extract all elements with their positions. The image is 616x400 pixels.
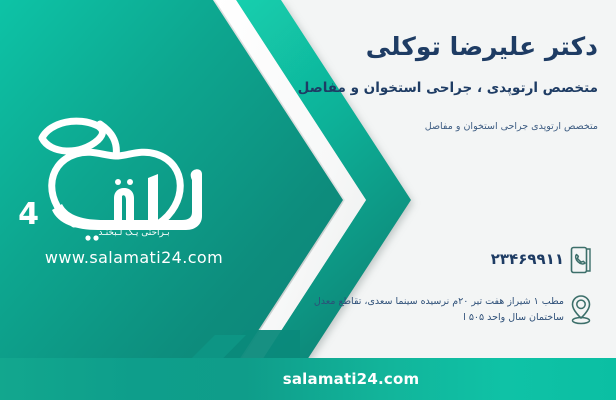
logo-slogan: بـراحتی یـک لـبخنـد	[18, 228, 250, 238]
footer-bar: salamati24.com	[0, 358, 616, 400]
address-line-1: مطب ۱ شیراز هفت تیر ۲۰م نرسیده سینما سعد…	[260, 294, 564, 310]
location-pin-icon	[564, 290, 598, 330]
doctor-specialty: متخصص ارتوپدی ، جراحی استخوان و مفاصل	[268, 78, 598, 98]
doctor-name: دکتر علیرضا توکلی	[268, 30, 598, 64]
contact-row-address[interactable]: مطب ۱ شیراز هفت تیر ۲۰م نرسیده سینما سعد…	[260, 290, 600, 330]
address-line-2: ساختمان سال واحد ۵۰۵ ا	[260, 310, 564, 326]
logo-url: www.salamati24.com	[18, 248, 250, 267]
svg-text:24: 24	[18, 197, 38, 232]
phone-number[interactable]: ۲۳۴۶۹۹۱۱	[260, 244, 564, 268]
logo-badge-24: 24	[18, 197, 38, 232]
doctor-info: دکتر علیرضا توکلی متخصص ارتوپدی ، جراحی …	[268, 30, 598, 134]
business-card: 24 بـراحتی یـک لـبخنـد www.salamati24.co…	[0, 0, 616, 400]
footer-website[interactable]: salamati24.com	[86, 370, 616, 388]
contact-row-phone[interactable]: ۲۳۴۶۹۹۱۱	[260, 240, 600, 280]
phone-book-icon	[564, 240, 598, 280]
address-text: مطب ۱ شیراز هفت تیر ۲۰م نرسیده سینما سعد…	[260, 294, 564, 325]
contact-block: ۲۳۴۶۹۹۱۱ مطب ۱ شیراز هفت تیر ۲۰م نرسیده …	[260, 240, 600, 340]
doctor-specialty-sub: متخصص ارتوپدی جراحی استخوان و مفاصل	[268, 120, 598, 134]
brand-logo: 24 بـراحتی یـک لـبخنـد www.salamati24.co…	[18, 112, 250, 272]
